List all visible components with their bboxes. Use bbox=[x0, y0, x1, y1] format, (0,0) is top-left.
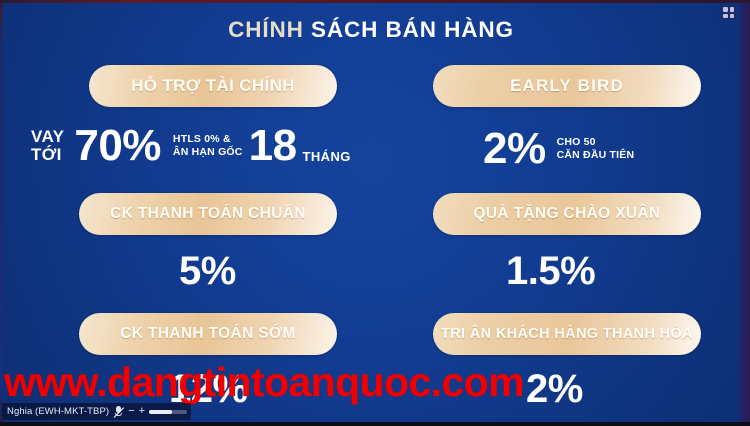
microphone-muted-icon[interactable] bbox=[114, 406, 123, 418]
fullscreen-expand-icon[interactable] bbox=[721, 5, 736, 20]
early-bird-percent-value: 2% bbox=[483, 127, 546, 171]
volume-control[interactable]: − + bbox=[128, 406, 187, 417]
pill-label: QUÀ TẶNG CHÀO XUÂN bbox=[473, 205, 660, 223]
page-title: CHÍNH SÁCH BÁN HÀNG bbox=[3, 17, 739, 43]
early-bird-note: CHO 50 CĂN ĐẦU TIÊN bbox=[557, 136, 635, 161]
loan-note-line2: ÂN HẠN GỐC bbox=[173, 146, 243, 159]
window-top-bezel bbox=[0, 0, 750, 3]
page-title-rest: SÁCH BÁN HÀNG bbox=[304, 17, 514, 42]
pill-qua-tang-chao-xuan[interactable]: QUÀ TẶNG CHÀO XUÂN bbox=[433, 193, 701, 235]
loan-percent-value: 70% bbox=[74, 124, 161, 168]
volume-up-icon[interactable]: + bbox=[139, 406, 145, 417]
site-watermark: www.dangtintoanquoc.com bbox=[4, 359, 740, 406]
window-left-bezel bbox=[0, 0, 3, 426]
early-bird-note-line1: CHO 50 bbox=[557, 136, 596, 149]
window-right-bezel bbox=[739, 0, 750, 426]
vay-toi-line2: TỚI bbox=[31, 146, 64, 164]
loan-note: HTLS 0% & ÂN HẠN GỐC bbox=[173, 133, 243, 158]
qua-tang-value: 1.5% bbox=[506, 249, 595, 294]
page-title-highlight: CHÍNH bbox=[228, 17, 304, 42]
stat-row-early-bird: 2% CHO 50 CĂN ĐẦU TIÊN bbox=[483, 127, 634, 171]
volume-slider[interactable] bbox=[149, 410, 187, 414]
vay-toi-label: VAY TỚI bbox=[31, 128, 64, 165]
pill-label: EARLY BIRD bbox=[510, 76, 624, 96]
stat-row-vay-toi: VAY TỚI 70% HTLS 0% & ÂN HẠN GỐC 18 THÁN… bbox=[31, 124, 351, 168]
pill-label: HỖ TRỢ TÀI CHÍNH bbox=[131, 76, 295, 96]
early-bird-note-line2: CĂN ĐẦU TIÊN bbox=[557, 149, 635, 162]
window-bottom-bezel bbox=[0, 422, 750, 426]
volume-down-icon[interactable]: − bbox=[128, 406, 134, 417]
pill-ck-thanh-toan-chuan[interactable]: CK THANH TOÁN CHUẨN bbox=[79, 193, 337, 235]
loan-note-line1: HTLS 0% & bbox=[173, 133, 231, 146]
screen: CHÍNH SÁCH BÁN HÀNG HỖ TRỢ TÀI CHÍNH VAY… bbox=[0, 0, 750, 426]
ck-chuan-value: 5% bbox=[179, 249, 236, 294]
pill-label: CK THANH TOÁN SỚM bbox=[120, 325, 296, 343]
participant-name: Nghia (EWH-MKT-TBP) bbox=[7, 406, 109, 417]
pill-early-bird[interactable]: EARLY BIRD bbox=[433, 65, 701, 107]
pill-tri-an-khach-hang-thanh-hoa[interactable]: TRI ÂN KHÁCH HÀNG THANH HÓA bbox=[433, 313, 701, 355]
loan-months-value: 18 bbox=[249, 124, 297, 168]
call-participant-strip: Nghia (EWH-MKT-TBP) − + bbox=[2, 403, 191, 420]
pill-ho-tro-tai-chinh[interactable]: HỖ TRỢ TÀI CHÍNH bbox=[89, 65, 337, 107]
pill-ck-thanh-toan-som[interactable]: CK THANH TOÁN SỚM bbox=[79, 313, 337, 355]
pill-label: CK THANH TOÁN CHUẨN bbox=[110, 205, 306, 223]
pill-label: TRI ÂN KHÁCH HÀNG THANH HÓA bbox=[441, 326, 693, 342]
loan-months-unit: THÁNG bbox=[303, 149, 351, 168]
vay-toi-line1: VAY bbox=[31, 128, 64, 146]
